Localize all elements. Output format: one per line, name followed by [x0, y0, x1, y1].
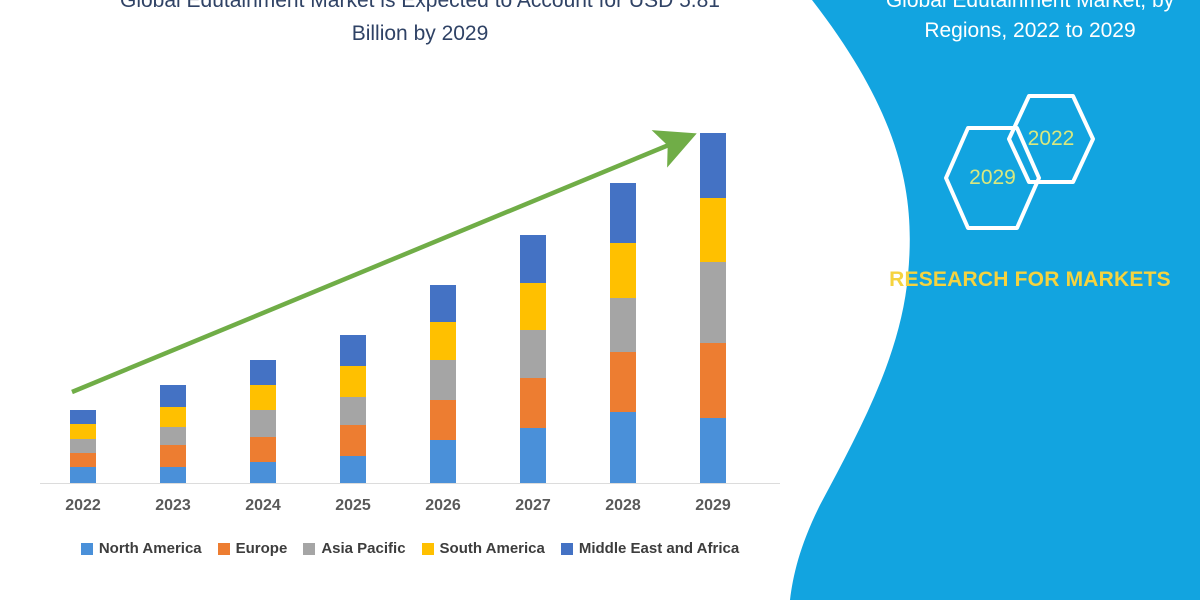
bar-segment-2025-europe [340, 425, 366, 456]
hexagon-2029: 2029 [940, 124, 1045, 232]
panel-title: Global Edutainment Market, by Regions, 2… [860, 0, 1200, 46]
growth-arrow-line [72, 142, 676, 392]
bar-2028[interactable] [610, 183, 636, 483]
legend-item-asia-pacific[interactable]: Asia Pacific [303, 540, 405, 557]
bar-segment-2024-europe [250, 437, 276, 462]
legend-label: Middle East and Africa [579, 540, 739, 557]
bar-segment-2029-europe [700, 343, 726, 418]
bar-segment-2026-middle-east-and-africa [430, 285, 456, 322]
bar-segment-2027-south-america [520, 283, 546, 330]
bar-segment-2023-north-america [160, 467, 186, 483]
bar-segment-2029-south-america [700, 198, 726, 262]
bar-segment-2024-asia-pacific [250, 410, 276, 437]
bar-segment-2024-south-america [250, 385, 276, 410]
bar-segment-2026-asia-pacific [430, 360, 456, 400]
legend-item-middle-east-and-africa[interactable]: Middle East and Africa [561, 540, 739, 557]
bar-segment-2022-middle-east-and-africa [70, 410, 96, 424]
bar-segment-2024-middle-east-and-africa [250, 360, 276, 385]
x-tick-2022: 2022 [43, 497, 123, 515]
bar-segment-2028-asia-pacific [610, 298, 636, 352]
x-tick-2029: 2029 [673, 497, 753, 515]
x-tick-2027: 2027 [493, 497, 573, 515]
bar-2029[interactable] [700, 133, 726, 483]
legend-label: Asia Pacific [321, 540, 405, 557]
bar-segment-2025-north-america [340, 456, 366, 483]
bar-segment-2025-south-america [340, 366, 366, 397]
bar-2026[interactable] [430, 285, 456, 483]
legend-item-north-america[interactable]: North America [81, 540, 202, 557]
bar-segment-2026-north-america [430, 440, 456, 483]
bar-2025[interactable] [340, 335, 366, 483]
x-tick-2026: 2026 [403, 497, 483, 515]
bar-segment-2027-europe [520, 378, 546, 428]
bar-segment-2025-middle-east-and-africa [340, 335, 366, 366]
legend-label: Europe [236, 540, 288, 557]
bar-segment-2028-europe [610, 352, 636, 412]
bar-segment-2023-europe [160, 445, 186, 467]
bar-segment-2023-south-america [160, 407, 186, 427]
hexagon-2029-label: 2029 [940, 124, 1045, 232]
right-panel-content: Global Edutainment Market, by Regions, 2… [880, 0, 1200, 600]
bar-segment-2028-middle-east-and-africa [610, 183, 636, 243]
bar-segment-2028-north-america [610, 412, 636, 483]
legend-swatch-icon [422, 543, 434, 555]
x-tick-2025: 2025 [313, 497, 393, 515]
brand-wordmark: RESEARCH FOR MARKETS [860, 265, 1200, 295]
legend-swatch-icon [81, 543, 93, 555]
bar-segment-2027-asia-pacific [520, 330, 546, 378]
bar-segment-2029-north-america [700, 418, 726, 483]
legend-label: North America [99, 540, 202, 557]
legend-item-south-america[interactable]: South America [422, 540, 545, 557]
bar-segment-2027-middle-east-and-africa [520, 235, 546, 283]
chart-legend: North AmericaEuropeAsia PacificSouth Ame… [40, 540, 780, 557]
bar-segment-2027-north-america [520, 428, 546, 483]
bar-segment-2023-middle-east-and-africa [160, 385, 186, 407]
bar-segment-2023-asia-pacific [160, 427, 186, 445]
legend-label: South America [440, 540, 545, 557]
legend-item-europe[interactable]: Europe [218, 540, 288, 557]
infographic-canvas: Global Edutainment Market, by Regions, 2… [0, 0, 1200, 600]
legend-swatch-icon [303, 543, 315, 555]
legend-swatch-icon [561, 543, 573, 555]
bar-segment-2022-asia-pacific [70, 439, 96, 453]
bar-2024[interactable] [250, 360, 276, 483]
bar-segment-2029-asia-pacific [700, 262, 726, 343]
bar-segment-2026-south-america [430, 322, 456, 360]
bar-segment-2024-north-america [250, 462, 276, 483]
bar-segment-2028-south-america [610, 243, 636, 298]
x-tick-2028: 2028 [583, 497, 663, 515]
x-tick-2023: 2023 [133, 497, 213, 515]
chart-plot-area: 20222023202420252026202720282029 [0, 0, 800, 600]
bar-2023[interactable] [160, 385, 186, 483]
x-tick-2024: 2024 [223, 497, 303, 515]
bar-segment-2022-south-america [70, 424, 96, 439]
bar-segment-2025-asia-pacific [340, 397, 366, 425]
bar-segment-2026-europe [430, 400, 456, 440]
bar-2022[interactable] [70, 410, 96, 483]
bar-2027[interactable] [520, 235, 546, 483]
bar-segment-2022-europe [70, 453, 96, 467]
legend-swatch-icon [218, 543, 230, 555]
bar-segment-2029-middle-east-and-africa [700, 133, 726, 198]
bar-segment-2022-north-america [70, 467, 96, 483]
